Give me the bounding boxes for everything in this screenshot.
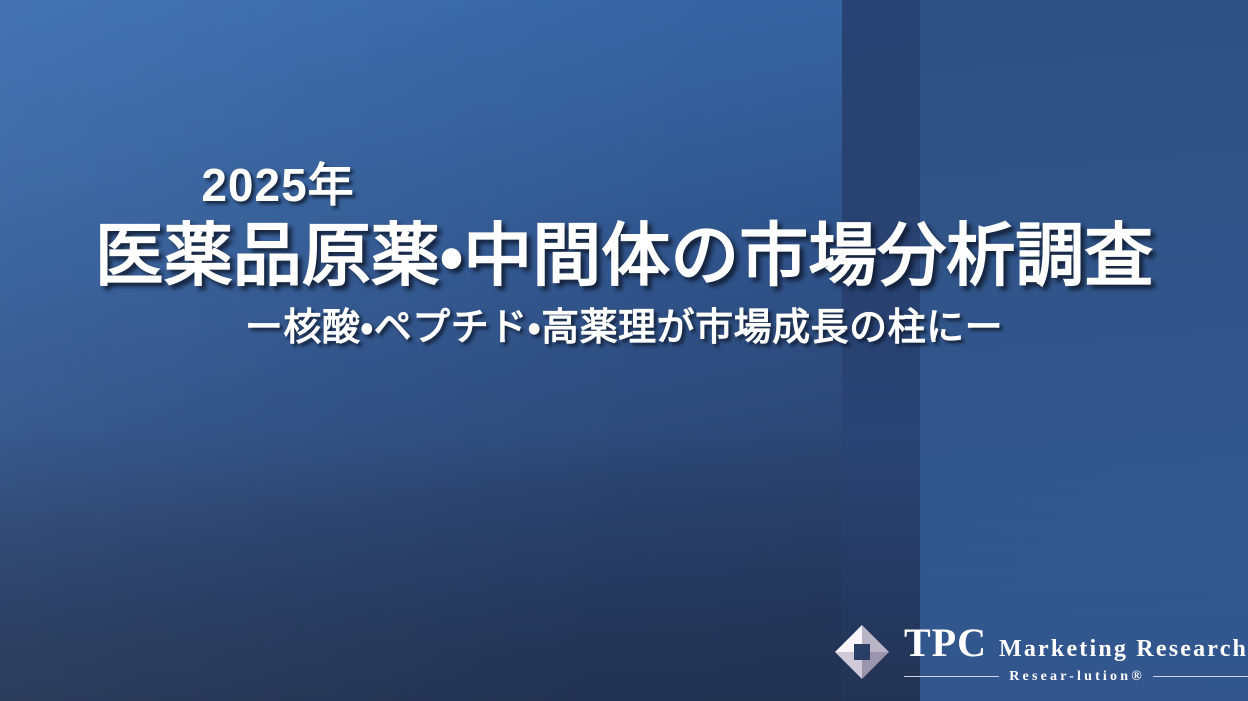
logo-brand-sub: Marketing Research <box>999 637 1248 661</box>
tagline-rule-right <box>1153 676 1248 677</box>
logo-tagline-row: Resear-lution® <box>904 670 1248 684</box>
year-label: 2025年 <box>0 160 1248 211</box>
logo-brand-row: TPC Marketing Research <box>904 623 1248 663</box>
logo-text-group: TPC Marketing Research Resear-lution® <box>904 621 1248 684</box>
company-logo: TPC Marketing Research Resear-lution® <box>832 612 1212 692</box>
tagline-rule-left <box>904 676 999 677</box>
title-block: 2025年 医薬品原薬・中間体の市場分析調査 ー核酸・ペプチド・高薬理が市場成長… <box>0 160 1248 351</box>
page-title: 医薬品原薬・中間体の市場分析調査 <box>0 217 1248 294</box>
title-slide: 2025年 医薬品原薬・中間体の市場分析調査 ー核酸・ペプチド・高薬理が市場成長… <box>0 0 1248 701</box>
logo-tagline: Resear-lution® <box>1009 670 1145 684</box>
diamond-logo-icon <box>832 622 892 682</box>
logo-brand: TPC <box>904 623 987 663</box>
page-subtitle: ー核酸・ペプチド・高薬理が市場成長の柱にー <box>0 306 1248 352</box>
